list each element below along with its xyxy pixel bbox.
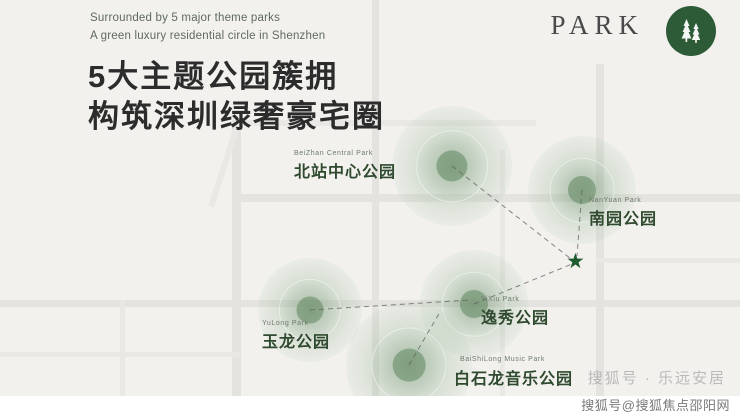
watermark-middle: 搜狐号 · 乐远安居 (588, 367, 726, 388)
brand-wordmark: PARK (550, 10, 644, 41)
park-label-cn: 白石龙音乐公园 (454, 365, 573, 389)
road-horizontal-4 (596, 258, 740, 263)
headline-line-1: 5大主题公园簇拥 (88, 51, 338, 96)
headline-line-2: 构筑深圳绿奢豪宅圈 (88, 91, 385, 136)
park-blob-beizhan-central (392, 106, 512, 226)
park-label-beizhan-central: BeiZhan Central Park 北站中心公园 (294, 150, 396, 182)
park-core (393, 349, 426, 382)
brand-badge (666, 6, 716, 56)
park-label-baishilong-music: BaiShiLong Music Park 白石龙音乐公园 (460, 356, 545, 364)
park-label-cn: 南园公园 (589, 205, 657, 229)
park-label-en: NanYuan Park (589, 197, 657, 204)
road-horizontal-2 (0, 300, 740, 307)
park-label-en: YuLong Park (262, 320, 330, 327)
park-label-en: YiXiu Park (481, 296, 549, 303)
park-label-en: BaiShiLong Music Park (460, 356, 545, 363)
watermark-bottom: 搜狐号@搜狐焦点邵阳网 (581, 395, 730, 414)
park-label-cn: 玉龙公园 (262, 328, 330, 352)
subtitle-line-1: Surrounded by 5 major theme parks (90, 12, 280, 24)
park-label-yulong: YuLong Park 玉龙公园 (262, 320, 330, 352)
subtitle-line-2: A green luxury residential circle in She… (90, 30, 325, 42)
park-label-yixiu: YiXiu Park 逸秀公园 (481, 296, 549, 328)
park-label-en: BeiZhan Central Park (294, 150, 396, 157)
poster-canvas: ★ BeiZhan Central Park 北站中心公园 NanYuan Pa… (0, 0, 740, 416)
park-label-cn: 逸秀公园 (481, 304, 549, 328)
star-icon: ★ (566, 251, 585, 272)
park-label-cn: 北站中心公园 (294, 158, 396, 182)
road-vertical-1 (232, 120, 241, 416)
pine-tree-icon (676, 15, 706, 47)
park-label-nanyuan: NanYuan Park 南园公园 (589, 197, 657, 229)
